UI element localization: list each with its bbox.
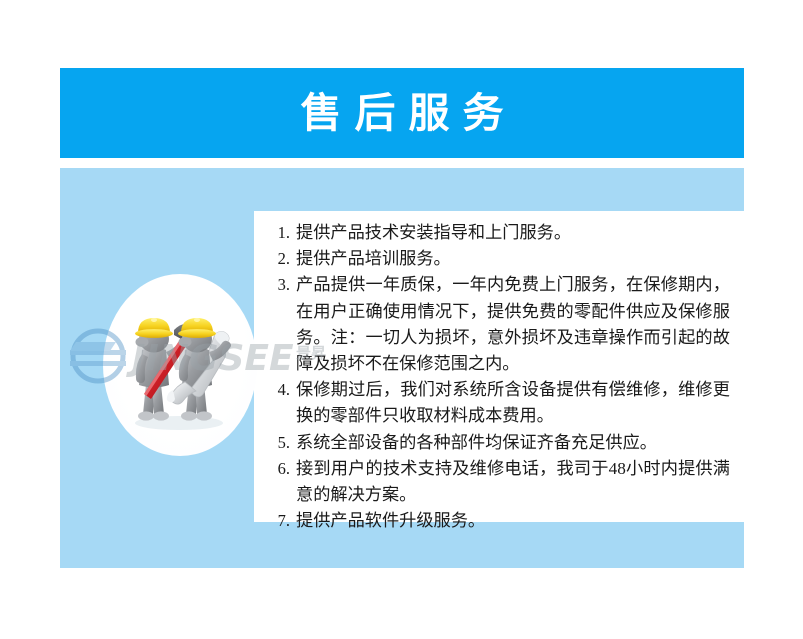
list-item: 产品提供一年质保，一年内免费上门服务，在保修期内，在用户正确使用情况下，提供免费… — [294, 272, 730, 377]
poster-header-bar: 售后服务 — [60, 68, 744, 158]
list-item: 接到用户的技术支持及维修电话，我司于48小时内提供满意的解决方案。 — [294, 456, 730, 508]
list-item: 保修期过后，我们对系统所含设备提供有偿维修，维修更换的零部件只收取材料成本费用。 — [294, 377, 730, 429]
list-item: 提供产品培训服务。 — [294, 246, 730, 272]
service-list: 提供产品技术安装指导和上门服务。 提供产品培训服务。 产品提供一年质保，一年内免… — [254, 211, 744, 534]
list-item: 提供产品软件升级服务。 — [294, 508, 730, 534]
service-illustration — [103, 274, 257, 456]
two-workers-icon — [111, 290, 251, 440]
page-title: 售后服务 — [288, 93, 517, 134]
list-item: 提供产品技术安装指导和上门服务。 — [294, 220, 730, 246]
list-item: 系统全部设备的各种部件均保证齐备充足供应。 — [294, 430, 730, 456]
after-sales-service-poster: 售后服务 提供产品技术安装指导和上门服务。 提供产品培训服务。 产品提供一年质保… — [0, 0, 803, 639]
service-content-card: 提供产品技术安装指导和上门服务。 提供产品培训服务。 产品提供一年质保，一年内免… — [254, 211, 744, 522]
